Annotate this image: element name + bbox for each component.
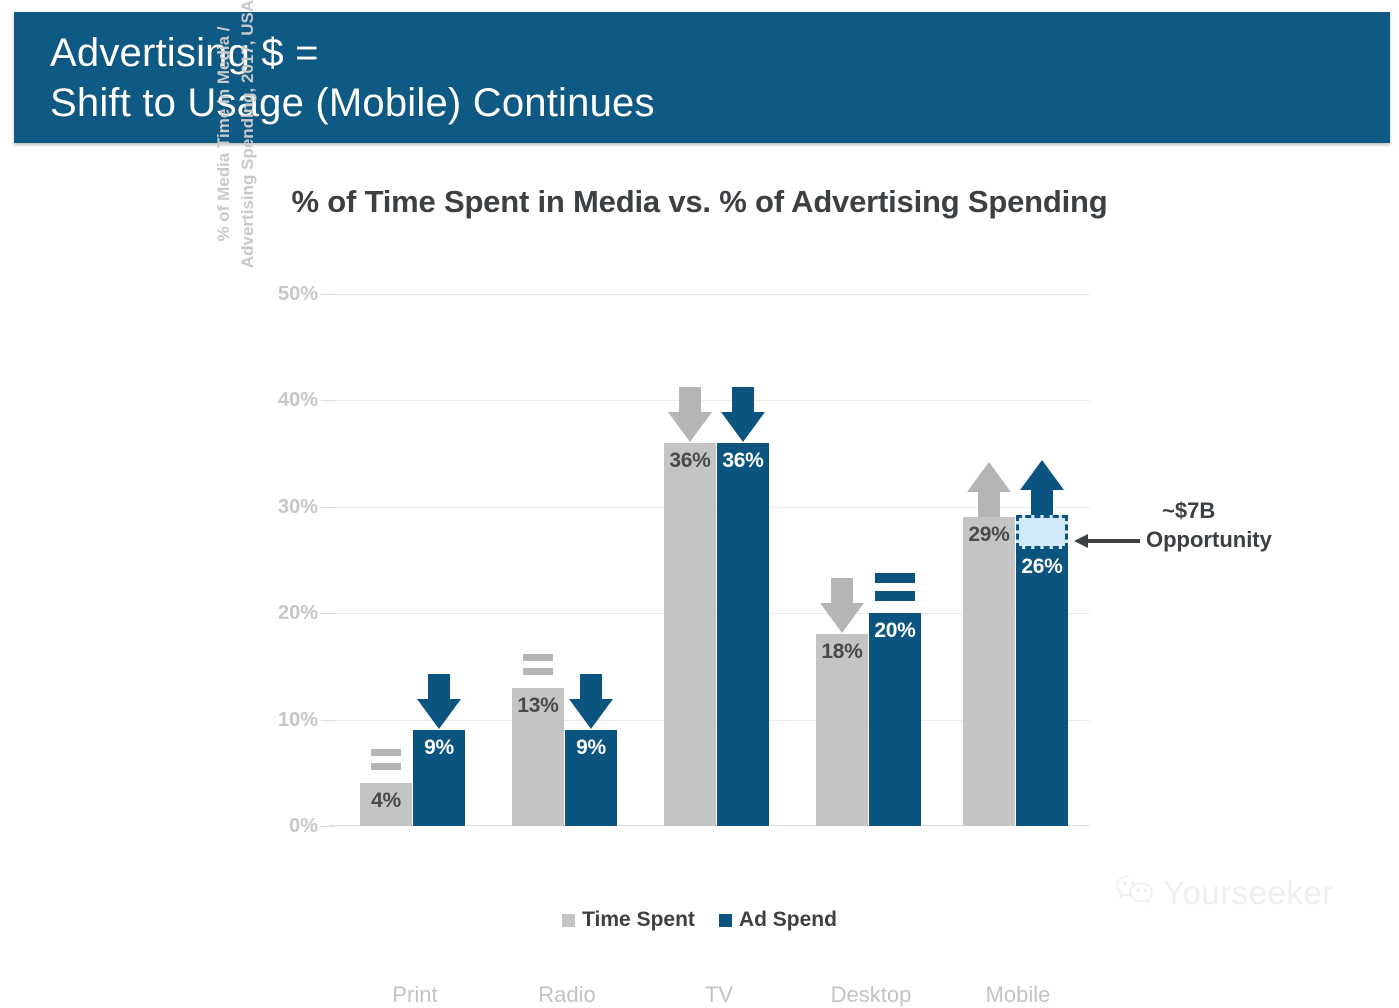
xlabel-tv: TV — [664, 982, 774, 1008]
bar-ad-spend-print[interactable]: 9% — [413, 730, 465, 826]
trend-equal-icon-time-spent-print — [360, 727, 412, 783]
trend-down-icon-ad-spend-radio — [565, 674, 617, 730]
legend-item-ad-spend[interactable]: Ad Spend — [719, 908, 837, 932]
bar-time-spent-mobile[interactable]: 29% — [963, 517, 1015, 826]
bar-label-ad-spend-print: 9% — [413, 736, 465, 760]
ytick-dash-40 — [321, 400, 335, 401]
opportunity-gap-block[interactable] — [1016, 515, 1068, 549]
ytick-label-40: 40% — [248, 389, 318, 412]
legend-item-time-spent[interactable]: Time Spent — [562, 908, 695, 932]
bar-group-print: 4% 9% — [360, 294, 470, 826]
ytick-label-20: 20% — [248, 602, 318, 625]
xlabel-print: Print — [360, 982, 470, 1008]
legend-label-time-spent: Time Spent — [582, 908, 695, 932]
ytick-label-10: 10% — [248, 709, 318, 732]
xlabel-radio: Radio — [512, 982, 622, 1008]
bar-time-spent-radio[interactable]: 13% — [512, 688, 564, 826]
watermark-text: Yourseeker — [1163, 874, 1334, 912]
chart-container: % of Time Spent in Media vs. % of Advert… — [0, 143, 1399, 960]
chart-title: % of Time Spent in Media vs. % of Advert… — [0, 184, 1399, 220]
ytick-dash-10 — [321, 720, 335, 721]
bar-group-tv: 36% 36% — [664, 294, 774, 826]
bar-ad-spend-desktop[interactable]: 20% — [869, 613, 921, 826]
trend-down-icon-ad-spend-print — [413, 674, 465, 730]
ytick-dash-50 — [321, 294, 335, 295]
bar-group-mobile: 29% 26% — [963, 294, 1073, 826]
legend-swatch-ad-spend — [719, 914, 732, 927]
opportunity-text: Opportunity — [1146, 525, 1386, 554]
trend-equal-icon-ad-spend-desktop — [869, 557, 921, 613]
legend-swatch-time-spent — [562, 914, 575, 927]
bar-label-time-spent-radio: 13% — [512, 694, 564, 718]
page-title: Advertising $ = Shift to Usage (Mobile) … — [50, 28, 655, 128]
bar-label-ad-spend-tv: 36% — [717, 449, 769, 473]
ytick-dash-30 — [321, 507, 335, 508]
wechat-icon — [1115, 873, 1155, 912]
bar-time-spent-desktop[interactable]: 18% — [816, 634, 868, 826]
trend-up-icon-time-spent-mobile — [963, 461, 1015, 517]
bar-time-spent-tv[interactable]: 36% — [664, 443, 716, 826]
legend-label-ad-spend: Ad Spend — [739, 908, 837, 932]
header-banner: Advertising $ = Shift to Usage (Mobile) … — [14, 12, 1390, 143]
trend-down-icon-ad-spend-tv — [717, 387, 769, 443]
trend-down-icon-time-spent-tv — [664, 387, 716, 443]
bar-label-time-spent-print: 4% — [360, 789, 412, 813]
xlabel-desktop: Desktop — [816, 982, 926, 1008]
xlabel-mobile: Mobile — [963, 982, 1073, 1008]
ytick-label-30: 30% — [248, 496, 318, 519]
plot-area: % of Media Time in Media / Advertising S… — [330, 294, 1090, 826]
ytick-label-0: 0% — [248, 815, 318, 838]
bar-label-ad-spend-radio: 9% — [565, 736, 617, 760]
bar-label-ad-spend-mobile: 26% — [1016, 555, 1068, 579]
opportunity-amount: ~$7B — [1146, 496, 1386, 525]
ytick-dash-0 — [321, 826, 335, 827]
bar-ad-spend-tv[interactable]: 36% — [717, 443, 769, 826]
opportunity-arrow-icon — [1074, 534, 1140, 548]
watermark: Yourseeker — [1115, 873, 1334, 912]
bar-label-time-spent-mobile: 29% — [963, 523, 1015, 547]
bar-group-desktop: 18% 20% — [816, 294, 926, 826]
trend-down-icon-time-spent-desktop — [816, 578, 868, 634]
bar-label-time-spent-tv: 36% — [664, 449, 716, 473]
trend-equal-icon-time-spent-radio — [512, 632, 564, 688]
bar-ad-spend-radio[interactable]: 9% — [565, 730, 617, 826]
opportunity-callout: ~$7B Opportunity — [1146, 496, 1386, 554]
bar-ad-spend-mobile[interactable]: 26% — [1016, 549, 1068, 826]
bar-group-radio: 13% 9% — [512, 294, 622, 826]
ytick-label-50: 50% — [248, 283, 318, 306]
trend-up-icon-ad-spend-mobile — [1016, 459, 1068, 515]
bar-label-time-spent-desktop: 18% — [816, 640, 868, 664]
ytick-dash-20 — [321, 613, 335, 614]
bar-time-spent-print[interactable]: 4% — [360, 783, 412, 826]
bar-label-ad-spend-desktop: 20% — [869, 619, 921, 643]
